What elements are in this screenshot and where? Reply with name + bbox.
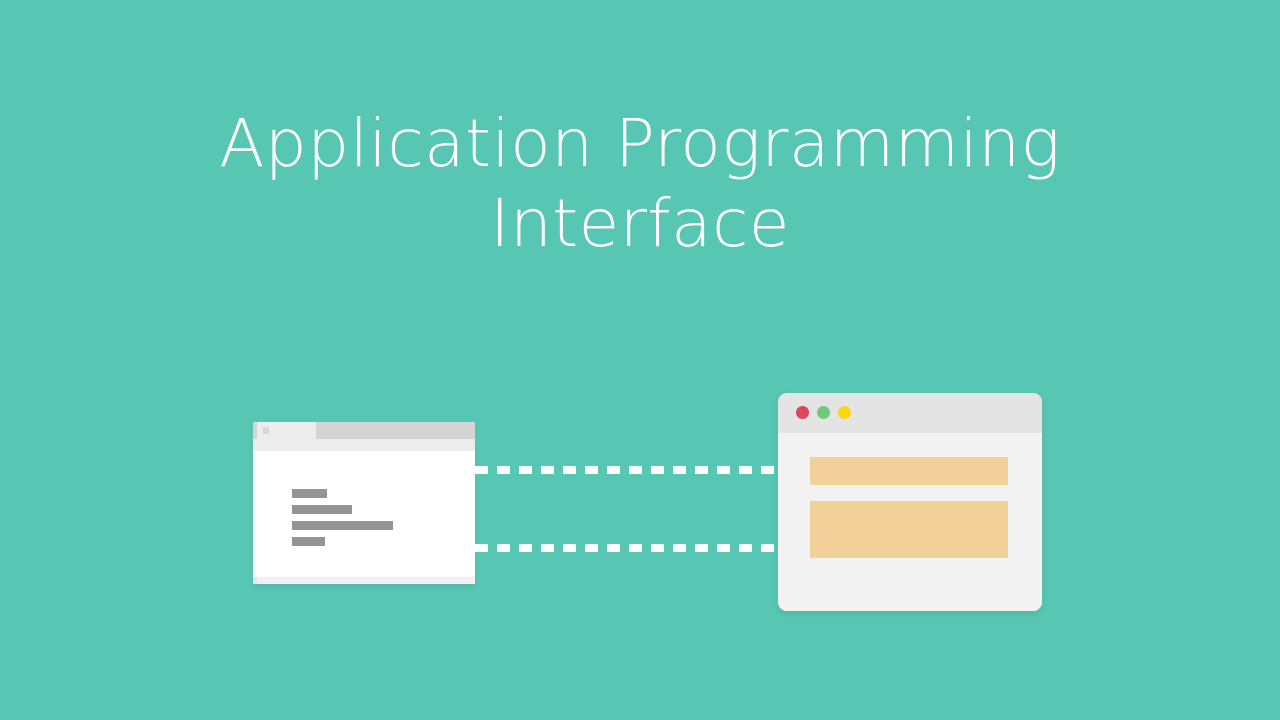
- api-response-line-bottom: [475, 544, 782, 552]
- code-line: [292, 489, 327, 498]
- client-window-titlebar: [253, 422, 475, 439]
- browser-tab[interactable]: [257, 422, 316, 439]
- api-window-body: [778, 433, 1042, 611]
- tab-favicon-icon: [263, 427, 269, 434]
- api-window-titlebar: [778, 393, 1042, 433]
- minimize-window-icon[interactable]: [817, 406, 830, 419]
- client-application-window[interactable]: [253, 422, 475, 584]
- close-window-icon[interactable]: [796, 406, 809, 419]
- slide-canvas: Application Programming Interface: [0, 0, 1280, 720]
- client-window-body: [253, 451, 475, 577]
- code-line: [292, 537, 325, 546]
- api-request-line-top: [475, 466, 782, 474]
- code-line: [292, 521, 393, 530]
- page-title: Application Programming Interface: [0, 104, 1280, 264]
- client-window-toolbar: [253, 439, 475, 451]
- code-line: [292, 505, 352, 514]
- api-content-panel: [810, 457, 1008, 485]
- client-window-bottom-edge: [253, 577, 475, 584]
- api-content-panel: [810, 501, 1008, 558]
- api-server-window[interactable]: [778, 393, 1042, 611]
- maximize-window-icon[interactable]: [838, 406, 851, 419]
